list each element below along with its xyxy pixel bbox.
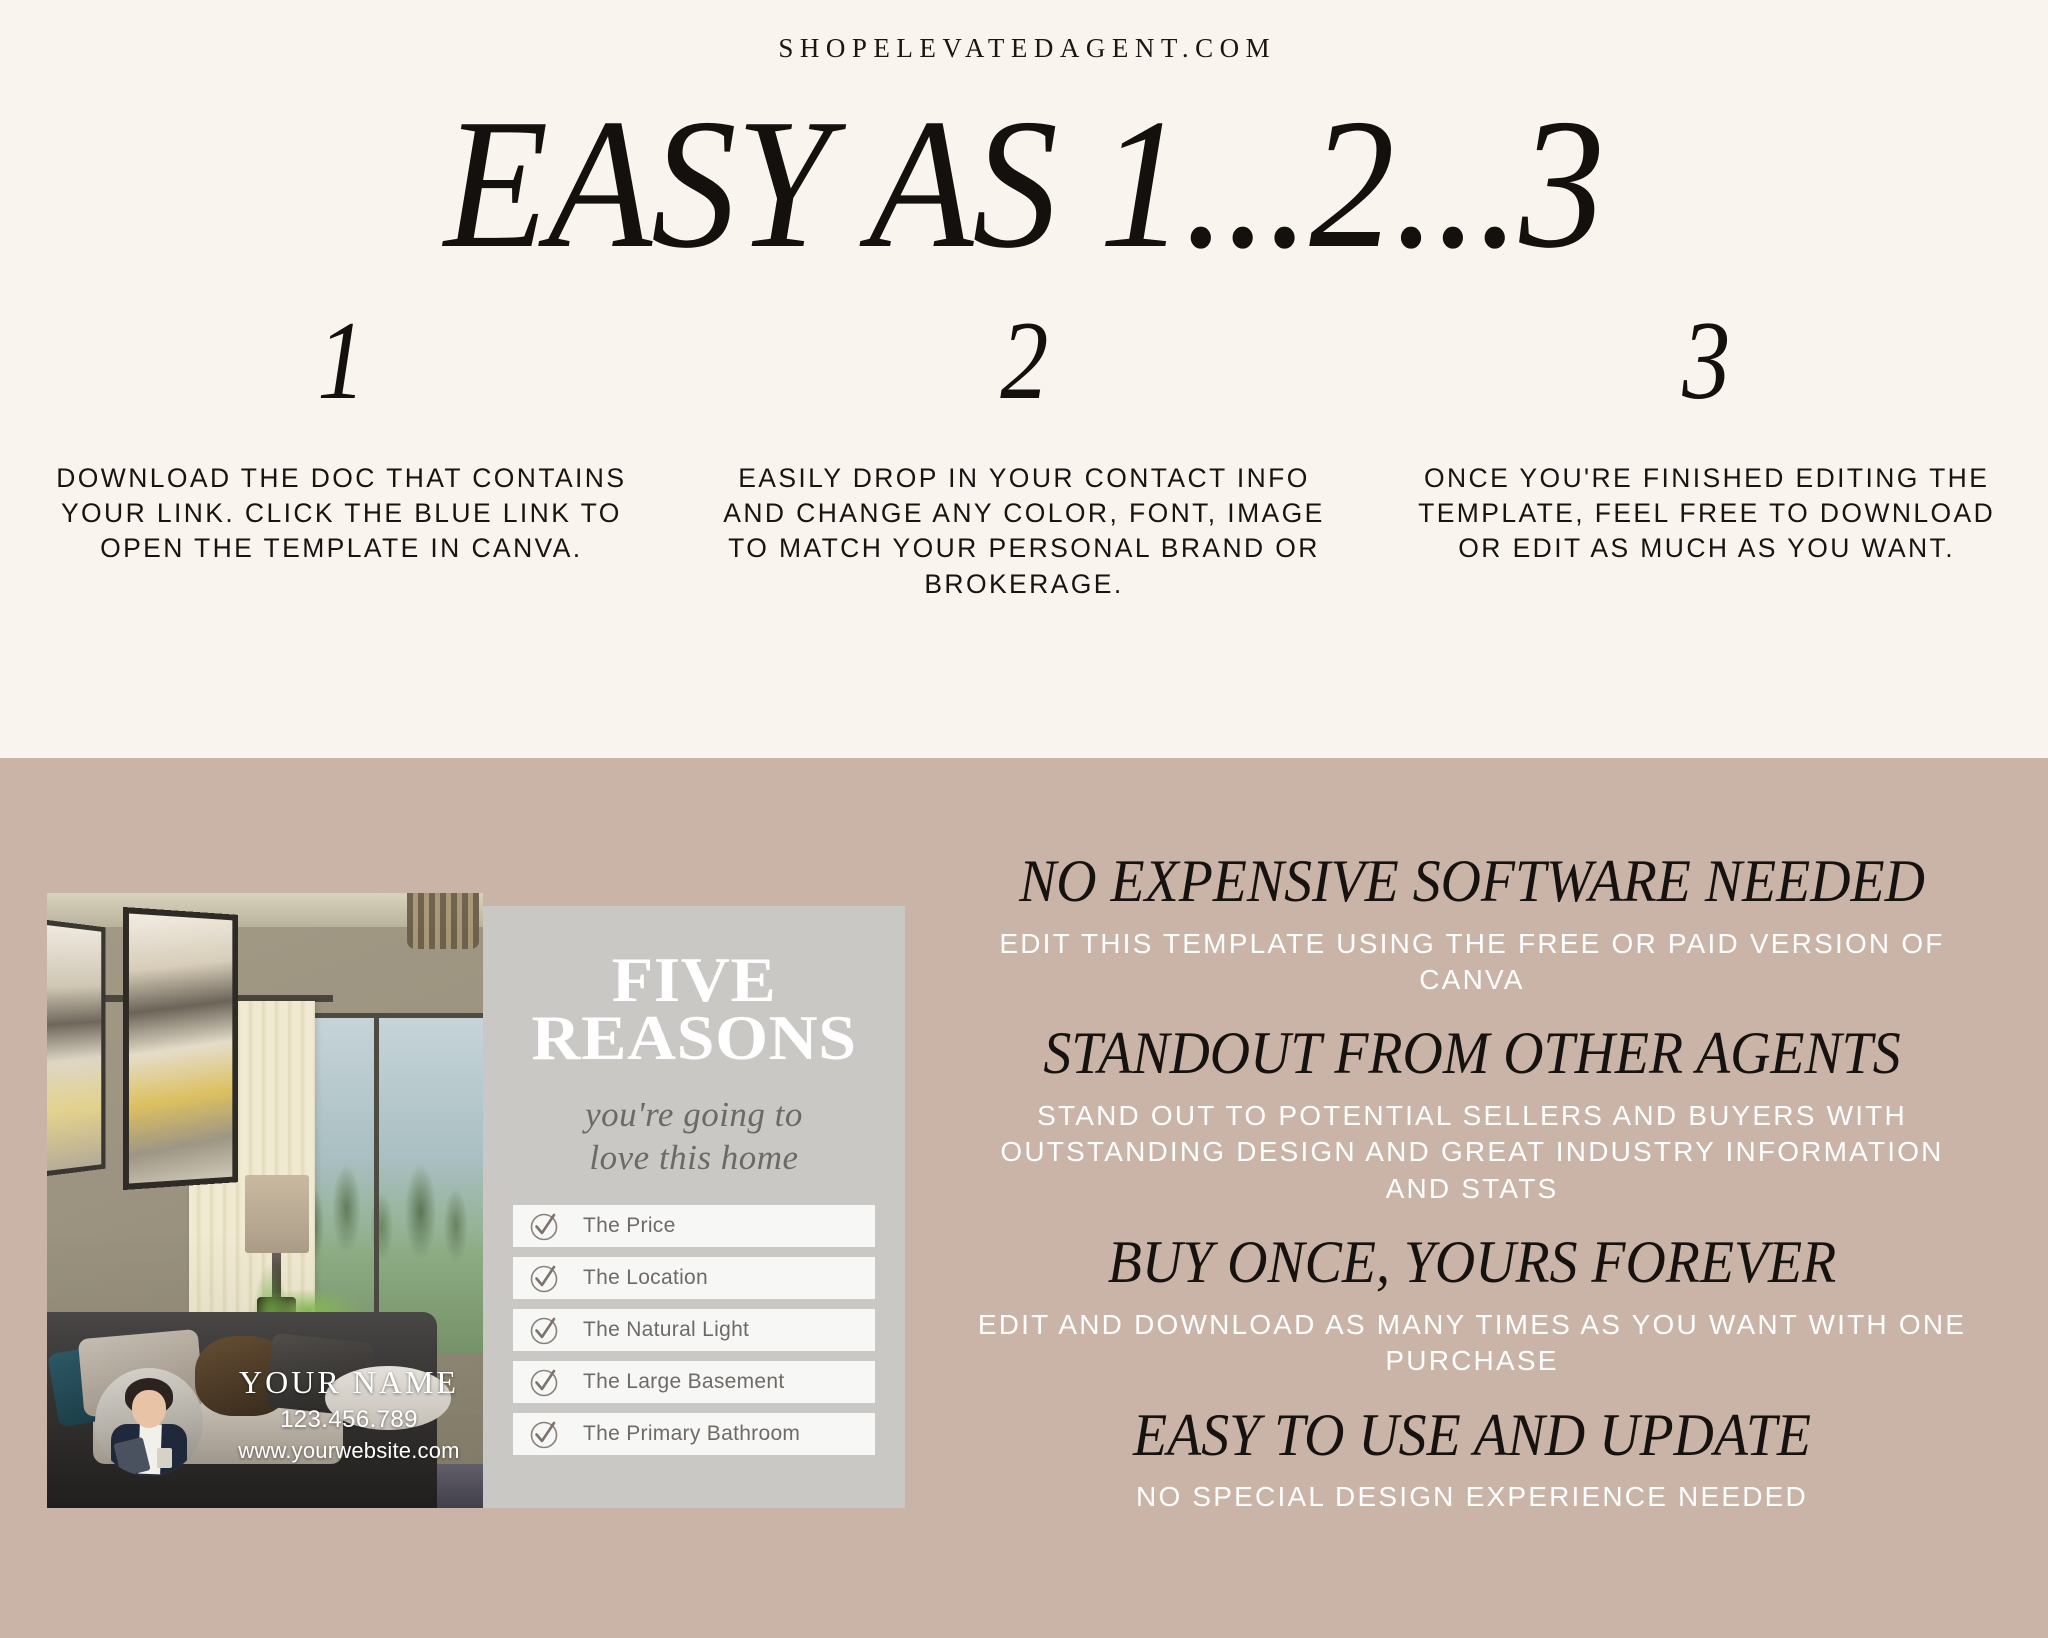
step-2: 2 EASILY DROP IN YOUR CONTACT INFO AND C… bbox=[683, 305, 1366, 602]
benefit-3-heading: BUY ONCE, YOURS FOREVER bbox=[959, 1231, 1986, 1295]
flyer-title: FIVE REASONS bbox=[499, 952, 890, 1068]
step-1-text: DOWNLOAD THE DOC THAT CONTAINS YOUR LINK… bbox=[29, 461, 654, 567]
flyer-subtitle: you're going to love this home bbox=[513, 1094, 875, 1179]
list-item: The Natural Light bbox=[513, 1309, 875, 1351]
flyer-subtitle-line-2: love this home bbox=[513, 1137, 875, 1180]
flyer-subtitle-line-1: you're going to bbox=[513, 1094, 875, 1137]
agent-contact-block: YOUR NAME 123.456.789 www.yourwebsite.co… bbox=[77, 1362, 481, 1474]
benefit-1: NO EXPENSIVE SOFTWARE NEEDED EDIT THIS T… bbox=[920, 850, 2024, 998]
step-1-number: 1 bbox=[68, 305, 614, 417]
step-3-number: 3 bbox=[1434, 305, 1980, 417]
list-item-label: The Location bbox=[583, 1266, 708, 1290]
check-circle-icon bbox=[527, 1209, 561, 1243]
step-2-text: EASILY DROP IN YOUR CONTACT INFO AND CHA… bbox=[707, 461, 1342, 602]
list-item-label: The Primary Bathroom bbox=[583, 1422, 800, 1446]
list-item-label: The Price bbox=[583, 1214, 676, 1238]
flyer-title-line-1: FIVE bbox=[499, 952, 890, 1010]
flyer-title-line-2: REASONS bbox=[499, 1010, 890, 1068]
step-1: 1 DOWNLOAD THE DOC THAT CONTAINS YOUR LI… bbox=[0, 305, 683, 602]
list-item: The Primary Bathroom bbox=[513, 1413, 875, 1455]
avatar-face bbox=[132, 1390, 166, 1428]
list-item: The Large Basement bbox=[513, 1361, 875, 1403]
steps-row: 1 DOWNLOAD THE DOC THAT CONTAINS YOUR LI… bbox=[0, 305, 2048, 602]
living-room-photo: YOUR NAME 123.456.789 www.yourwebsite.co… bbox=[47, 893, 483, 1508]
benefit-4-sub: NO SPECIAL DESIGN EXPERIENCE NEEDED bbox=[972, 1479, 1972, 1515]
benefit-1-heading: NO EXPENSIVE SOFTWARE NEEDED bbox=[959, 850, 1986, 914]
site-url: SHOPELEVATEDAGENT.COM bbox=[0, 33, 2048, 64]
benefit-3: BUY ONCE, YOURS FOREVER EDIT AND DOWNLOA… bbox=[920, 1231, 2024, 1379]
top-section: SHOPELEVATEDAGENT.COM EASY AS 1...2...3 … bbox=[0, 0, 2048, 758]
step-3-text: ONCE YOU'RE FINISHED EDITING THE TEMPLAT… bbox=[1397, 461, 2017, 567]
flyer-checklist: The Price The Location The Natural Light bbox=[513, 1205, 875, 1455]
benefit-4: EASY TO USE AND UPDATE NO SPECIAL DESIGN… bbox=[920, 1404, 2024, 1516]
page-title: EASY AS 1...2...3 bbox=[82, 84, 1966, 285]
promo-page: SHOPELEVATEDAGENT.COM EASY AS 1...2...3 … bbox=[0, 0, 2048, 1638]
avatar-coffee-cup bbox=[157, 1448, 172, 1468]
benefit-1-sub: EDIT THIS TEMPLATE USING THE FREE OR PAI… bbox=[972, 926, 1972, 999]
list-item: The Location bbox=[513, 1257, 875, 1299]
list-item: The Price bbox=[513, 1205, 875, 1247]
avatar bbox=[95, 1368, 203, 1476]
check-circle-icon bbox=[527, 1261, 561, 1295]
step-2-number: 2 bbox=[751, 305, 1297, 417]
benefit-2: STANDOUT FROM OTHER AGENTS STAND OUT TO … bbox=[920, 1022, 2024, 1207]
benefits-list: NO EXPENSIVE SOFTWARE NEEDED EDIT THIS T… bbox=[920, 850, 2024, 1516]
list-item-label: The Large Basement bbox=[583, 1370, 785, 1394]
list-item-label: The Natural Light bbox=[583, 1318, 749, 1342]
benefit-3-sub: EDIT AND DOWNLOAD AS MANY TIMES AS YOU W… bbox=[972, 1307, 1972, 1380]
benefit-2-heading: STANDOUT FROM OTHER AGENTS bbox=[959, 1022, 1986, 1086]
bottom-section: YOUR NAME 123.456.789 www.yourwebsite.co… bbox=[0, 758, 2048, 1638]
flyer-mockup: YOUR NAME 123.456.789 www.yourwebsite.co… bbox=[47, 893, 905, 1508]
check-circle-icon bbox=[527, 1417, 561, 1451]
check-circle-icon bbox=[527, 1313, 561, 1347]
benefit-4-heading: EASY TO USE AND UPDATE bbox=[959, 1404, 1986, 1468]
agent-name: YOUR NAME bbox=[217, 1364, 481, 1401]
agent-website: www.yourwebsite.com bbox=[217, 1438, 481, 1464]
benefit-2-sub: STAND OUT TO POTENTIAL SELLERS AND BUYER… bbox=[972, 1098, 1972, 1207]
flyer-panel: FIVE REASONS you're going to love this h… bbox=[483, 906, 905, 1508]
check-circle-icon bbox=[527, 1365, 561, 1399]
step-3: 3 ONCE YOU'RE FINISHED EDITING THE TEMPL… bbox=[1365, 305, 2048, 602]
agent-phone: 123.456.789 bbox=[217, 1406, 481, 1434]
